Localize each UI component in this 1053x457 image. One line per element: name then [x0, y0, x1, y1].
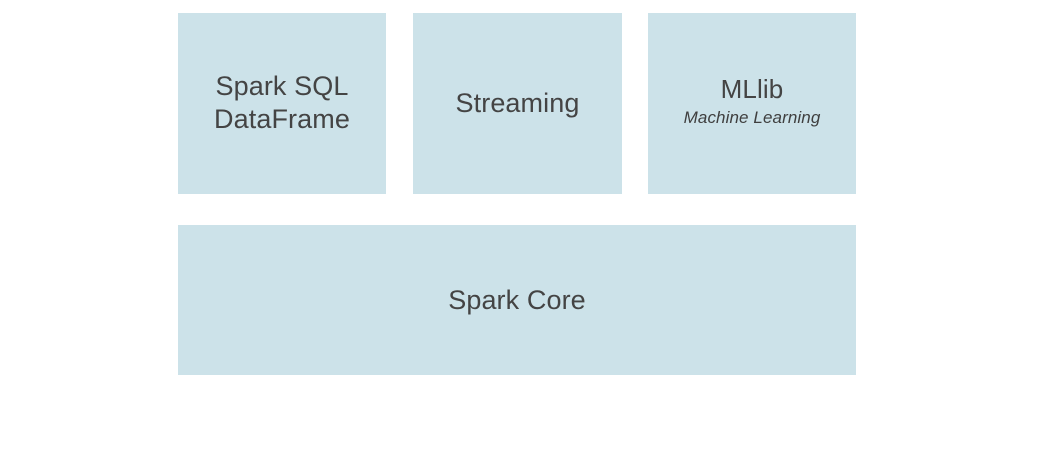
box-title-streaming: Streaming [456, 87, 580, 120]
box-title-spark-core: Spark Core [448, 284, 586, 317]
diagram-box-spark-core[interactable]: Spark Core [178, 225, 856, 375]
diagram-box-mllib[interactable]: MLlib Machine Learning [648, 13, 856, 194]
box-text-group: Spark Core [448, 284, 586, 317]
box-subtitle-mllib: Machine Learning [684, 108, 821, 129]
diagram-box-streaming[interactable]: Streaming [413, 13, 622, 194]
box-text-group: Spark SQL DataFrame [214, 71, 350, 137]
box-title-spark-sql: Spark SQL DataFrame [214, 70, 350, 136]
diagram-box-spark-sql[interactable]: Spark SQL DataFrame [178, 13, 386, 194]
box-text-group: MLlib Machine Learning [684, 74, 821, 128]
diagram-canvas: Spark SQL DataFrame Streaming MLlib Mach… [0, 0, 1053, 457]
box-title-mllib: MLlib [721, 74, 784, 106]
box-text-group: Streaming [456, 87, 580, 120]
